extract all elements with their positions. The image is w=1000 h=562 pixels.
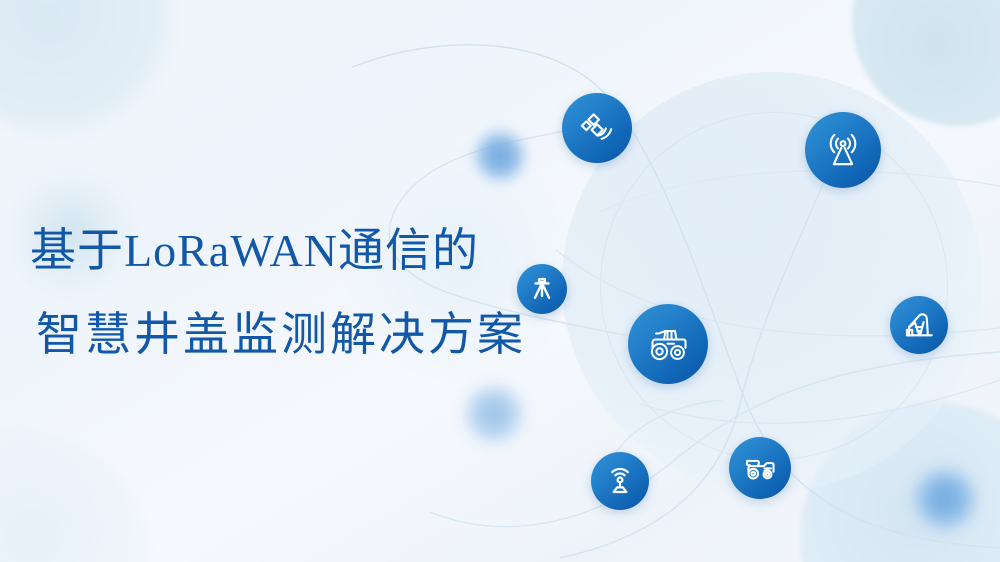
accent-dot-upper <box>472 128 528 184</box>
accent-dot-lower-right <box>912 466 978 532</box>
node-pumpjack[interactable] <box>890 296 948 354</box>
title-line-2: 智慧井盖监测解决方案 <box>36 312 570 358</box>
node-satellite[interactable] <box>562 93 632 163</box>
tractor-icon <box>644 320 692 368</box>
title-line-1: 基于LoRaWAN通信的 <box>30 228 570 274</box>
oil-pumpjack-icon <box>902 308 936 342</box>
slide-title: 基于LoRaWAN通信的 智慧井盖监测解决方案 <box>30 228 570 358</box>
node-harvester[interactable] <box>729 437 791 499</box>
radio-tower-icon <box>821 128 865 172</box>
accent-dot-lower-left <box>463 383 525 445</box>
wireless-sensor-icon <box>603 464 637 498</box>
satellite-signal-icon <box>577 108 617 148</box>
network-globe-outline <box>600 112 948 460</box>
soft-blob-bottom-left <box>0 432 150 562</box>
harvester-icon <box>742 450 778 486</box>
node-sensor[interactable] <box>591 452 649 510</box>
node-tractor[interactable] <box>628 304 708 384</box>
soft-blob-bottom-right <box>800 402 1000 562</box>
soft-blob-top-left <box>0 0 180 142</box>
soft-blob-top-right <box>852 0 1000 126</box>
title-slide: 基于LoRaWAN通信的 智慧井盖监测解决方案 <box>0 0 1000 562</box>
node-antenna[interactable] <box>805 112 881 188</box>
